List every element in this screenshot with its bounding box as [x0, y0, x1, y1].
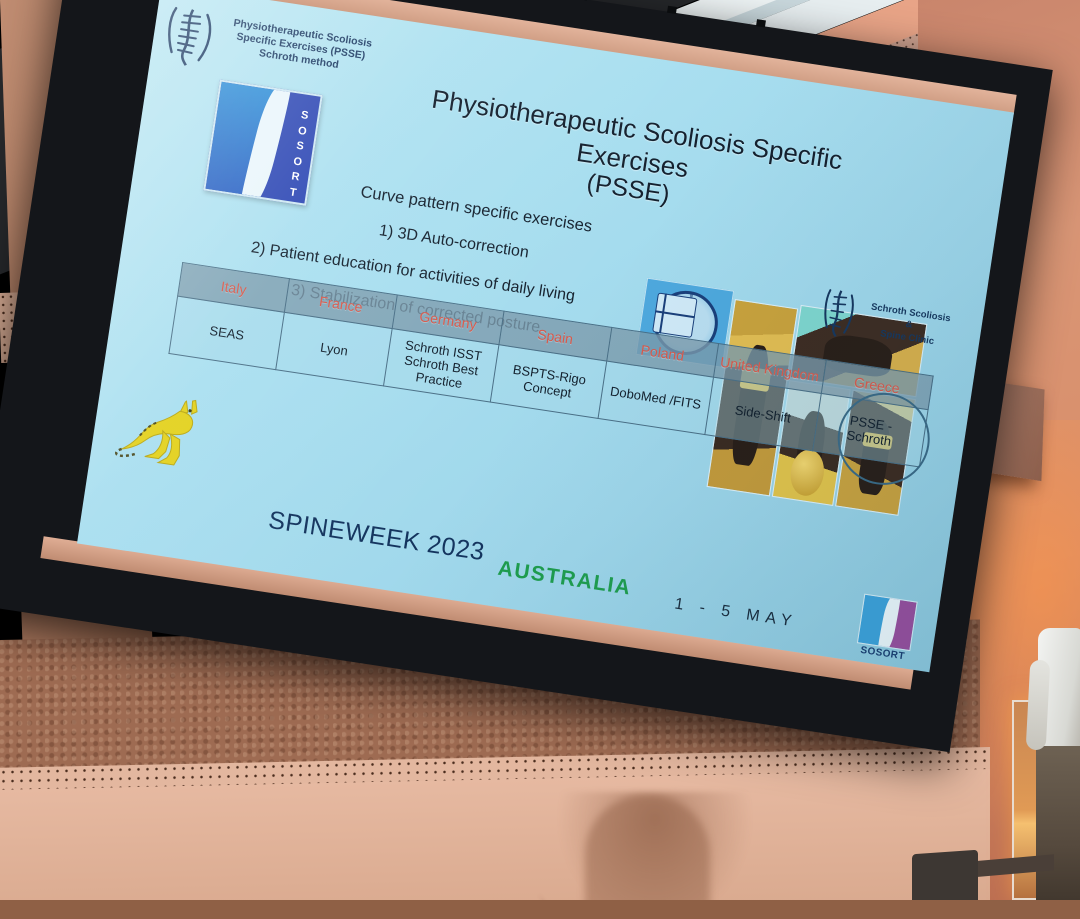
- footer-event-name: SPINEWEEK 2023: [266, 506, 486, 567]
- screen-clip: [667, 6, 677, 14]
- footer-dates: 1 - 5 MAY: [673, 596, 798, 632]
- kangaroo-icon: [113, 387, 212, 477]
- sosort-color-block: [857, 594, 918, 652]
- schroth-clinic-caption: Schroth Scoliosis & Spine Clinic: [855, 300, 963, 352]
- presenter-legs: [1036, 740, 1080, 919]
- screen-clip: [756, 19, 766, 27]
- footer-country: AUSTRALIA: [496, 557, 633, 601]
- screen-clip: [578, 0, 588, 1]
- sosort-logo-small: SOSORT: [854, 594, 918, 669]
- spine-icon: [818, 286, 859, 341]
- slide-header-caption: Physiotherapeutic Scoliosis Specific Exe…: [204, 13, 398, 80]
- floor: [0, 900, 1080, 919]
- sosort-s-curve-icon: [877, 594, 902, 652]
- lower-wall: [0, 769, 990, 919]
